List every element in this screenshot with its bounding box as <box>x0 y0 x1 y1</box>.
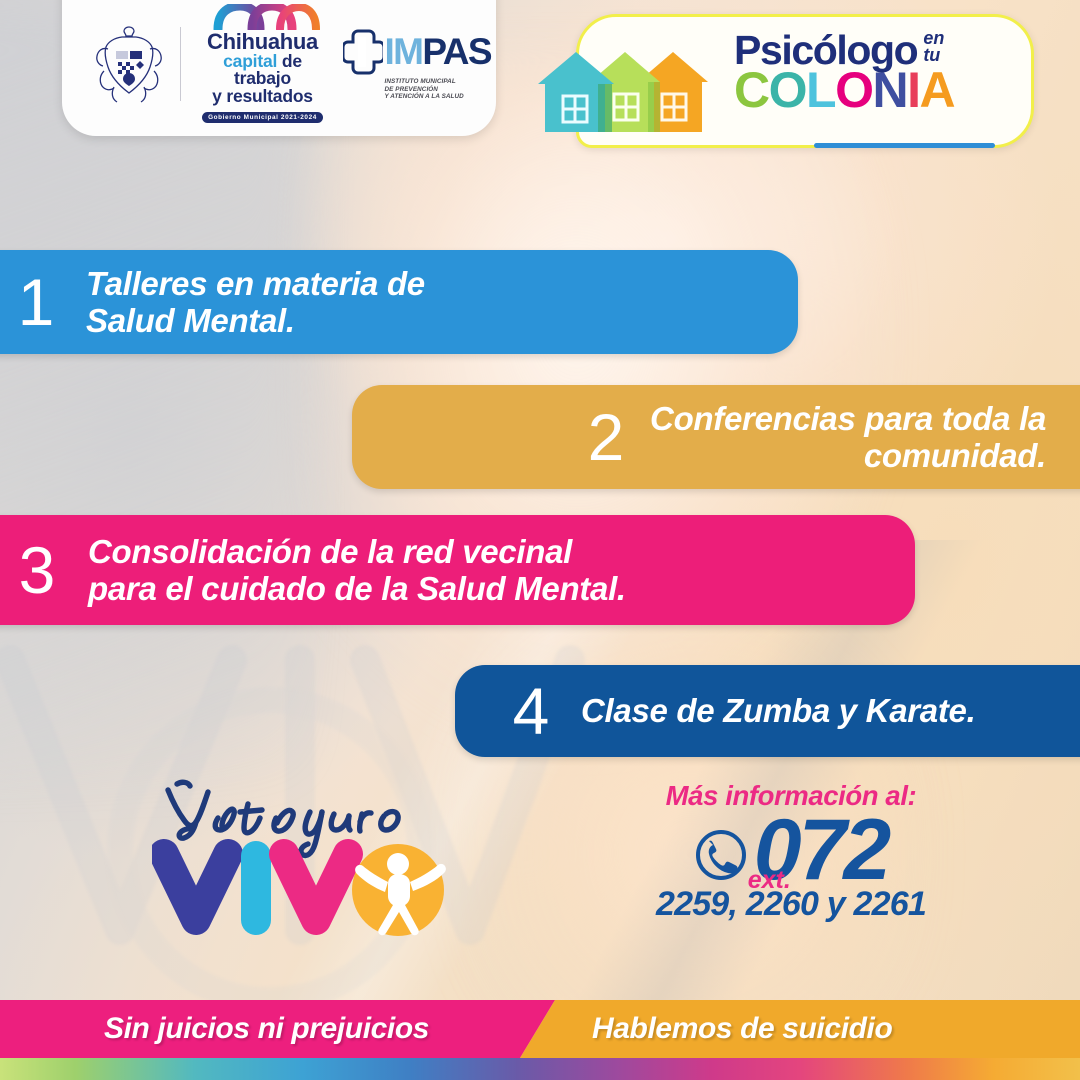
impas-acronym-pas: PAS <box>422 31 491 72</box>
item-text-1: Talleres en materia de Salud Mental. <box>86 265 425 340</box>
program-badge-text: Psicólogo en tu COLONIA <box>734 30 1034 114</box>
chihuahua-arcs-icon <box>195 4 331 30</box>
item-text-4: Clase de Zumba y Karate. <box>581 692 975 729</box>
impas-logo: IMPAS INSTITUTO MUNICIPAL DE PREVENCIÓN … <box>343 27 493 102</box>
item-number-4: 4 <box>493 678 569 744</box>
program-word-colonia: COLONIA <box>734 67 1034 114</box>
yo-te-quiero-vivo-logo <box>152 778 482 938</box>
phone-icon <box>694 828 748 882</box>
chihuahua-coat-of-arms-icon <box>92 21 166 107</box>
contact-ext-label: ext. <box>748 868 791 893</box>
chihuahua-city-logo: Chihuahua capital de trabajo y resultado… <box>195 4 331 124</box>
item-text-2: Conferencias para toda la comunidad. <box>650 400 1046 475</box>
service-item-1: 1 Talleres en materia de Salud Mental. <box>0 250 798 354</box>
banner-left-text: Sin juicios ni prejuicios <box>104 1000 429 1058</box>
impas-subtitle-line3: Y ATENCIÓN A LA SALUD <box>385 93 493 101</box>
impas-subtitle-line1: INSTITUTO MUNICIPAL <box>385 78 493 86</box>
item-number-1: 1 <box>0 269 72 335</box>
program-badge: Psicólogo en tu COLONIA <box>528 6 1048 154</box>
item-2-line-1: Conferencias para toda la <box>650 400 1046 437</box>
service-item-3: 3 Consolidación de la red vecinal para e… <box>0 515 915 625</box>
item-1-line-2: Salud Mental. <box>86 302 425 339</box>
colonia-letter-5: I <box>907 62 919 118</box>
logo-divider <box>180 27 181 101</box>
government-period-label: Gobierno Municipal 2021-2024 <box>202 112 323 123</box>
colonia-letter-1: O <box>769 62 806 118</box>
bottom-banner: Sin juicios ni prejuicios Hablemos de su… <box>0 1000 1080 1080</box>
colonia-letter-2: L <box>806 62 835 118</box>
impas-acronym-im: IM <box>385 31 423 72</box>
item-1-line-1: Talleres en materia de <box>86 265 425 302</box>
government-logo-plate: Chihuahua capital de trabajo y resultado… <box>62 0 496 136</box>
houses-illustration-icon <box>530 38 740 138</box>
colonia-letter-3: O <box>835 62 872 118</box>
city-name: Chihuahua <box>195 31 331 53</box>
program-word-tu: tu <box>923 47 944 64</box>
item-number-2: 2 <box>562 404 650 470</box>
banner-rainbow-strip <box>0 1058 1080 1080</box>
service-item-4: 4 Clase de Zumba y Karate. <box>455 665 1080 757</box>
service-item-2: 2 Conferencias para toda la comunidad. <box>352 385 1080 489</box>
item-2-line-2: comunidad. <box>650 437 1046 474</box>
item-text-3: Consolidación de la red vecinal para el … <box>88 533 626 608</box>
medical-cross-icon <box>343 27 383 77</box>
contact-block: Más información al: 072 ext. 2259, 2260 … <box>618 782 964 952</box>
banner-right-text: Hablemos de suicidio <box>592 1000 892 1058</box>
tagline-resultados: y resultados <box>195 88 331 106</box>
colonia-letter-0: C <box>734 62 769 118</box>
item-3-line-1: Consolidación de la red vecinal <box>88 533 626 570</box>
item-3-line-2: para el cuidado de la Salud Mental. <box>88 570 626 607</box>
poster-canvas: Chihuahua capital de trabajo y resultado… <box>0 0 1080 1080</box>
colonia-letter-6: A <box>919 62 954 118</box>
item-number-3: 3 <box>0 537 74 603</box>
program-word-en-tu: en tu <box>923 30 944 63</box>
item-4-line-1: Clase de Zumba y Karate. <box>581 692 975 729</box>
colonia-letter-4: N <box>872 62 907 118</box>
